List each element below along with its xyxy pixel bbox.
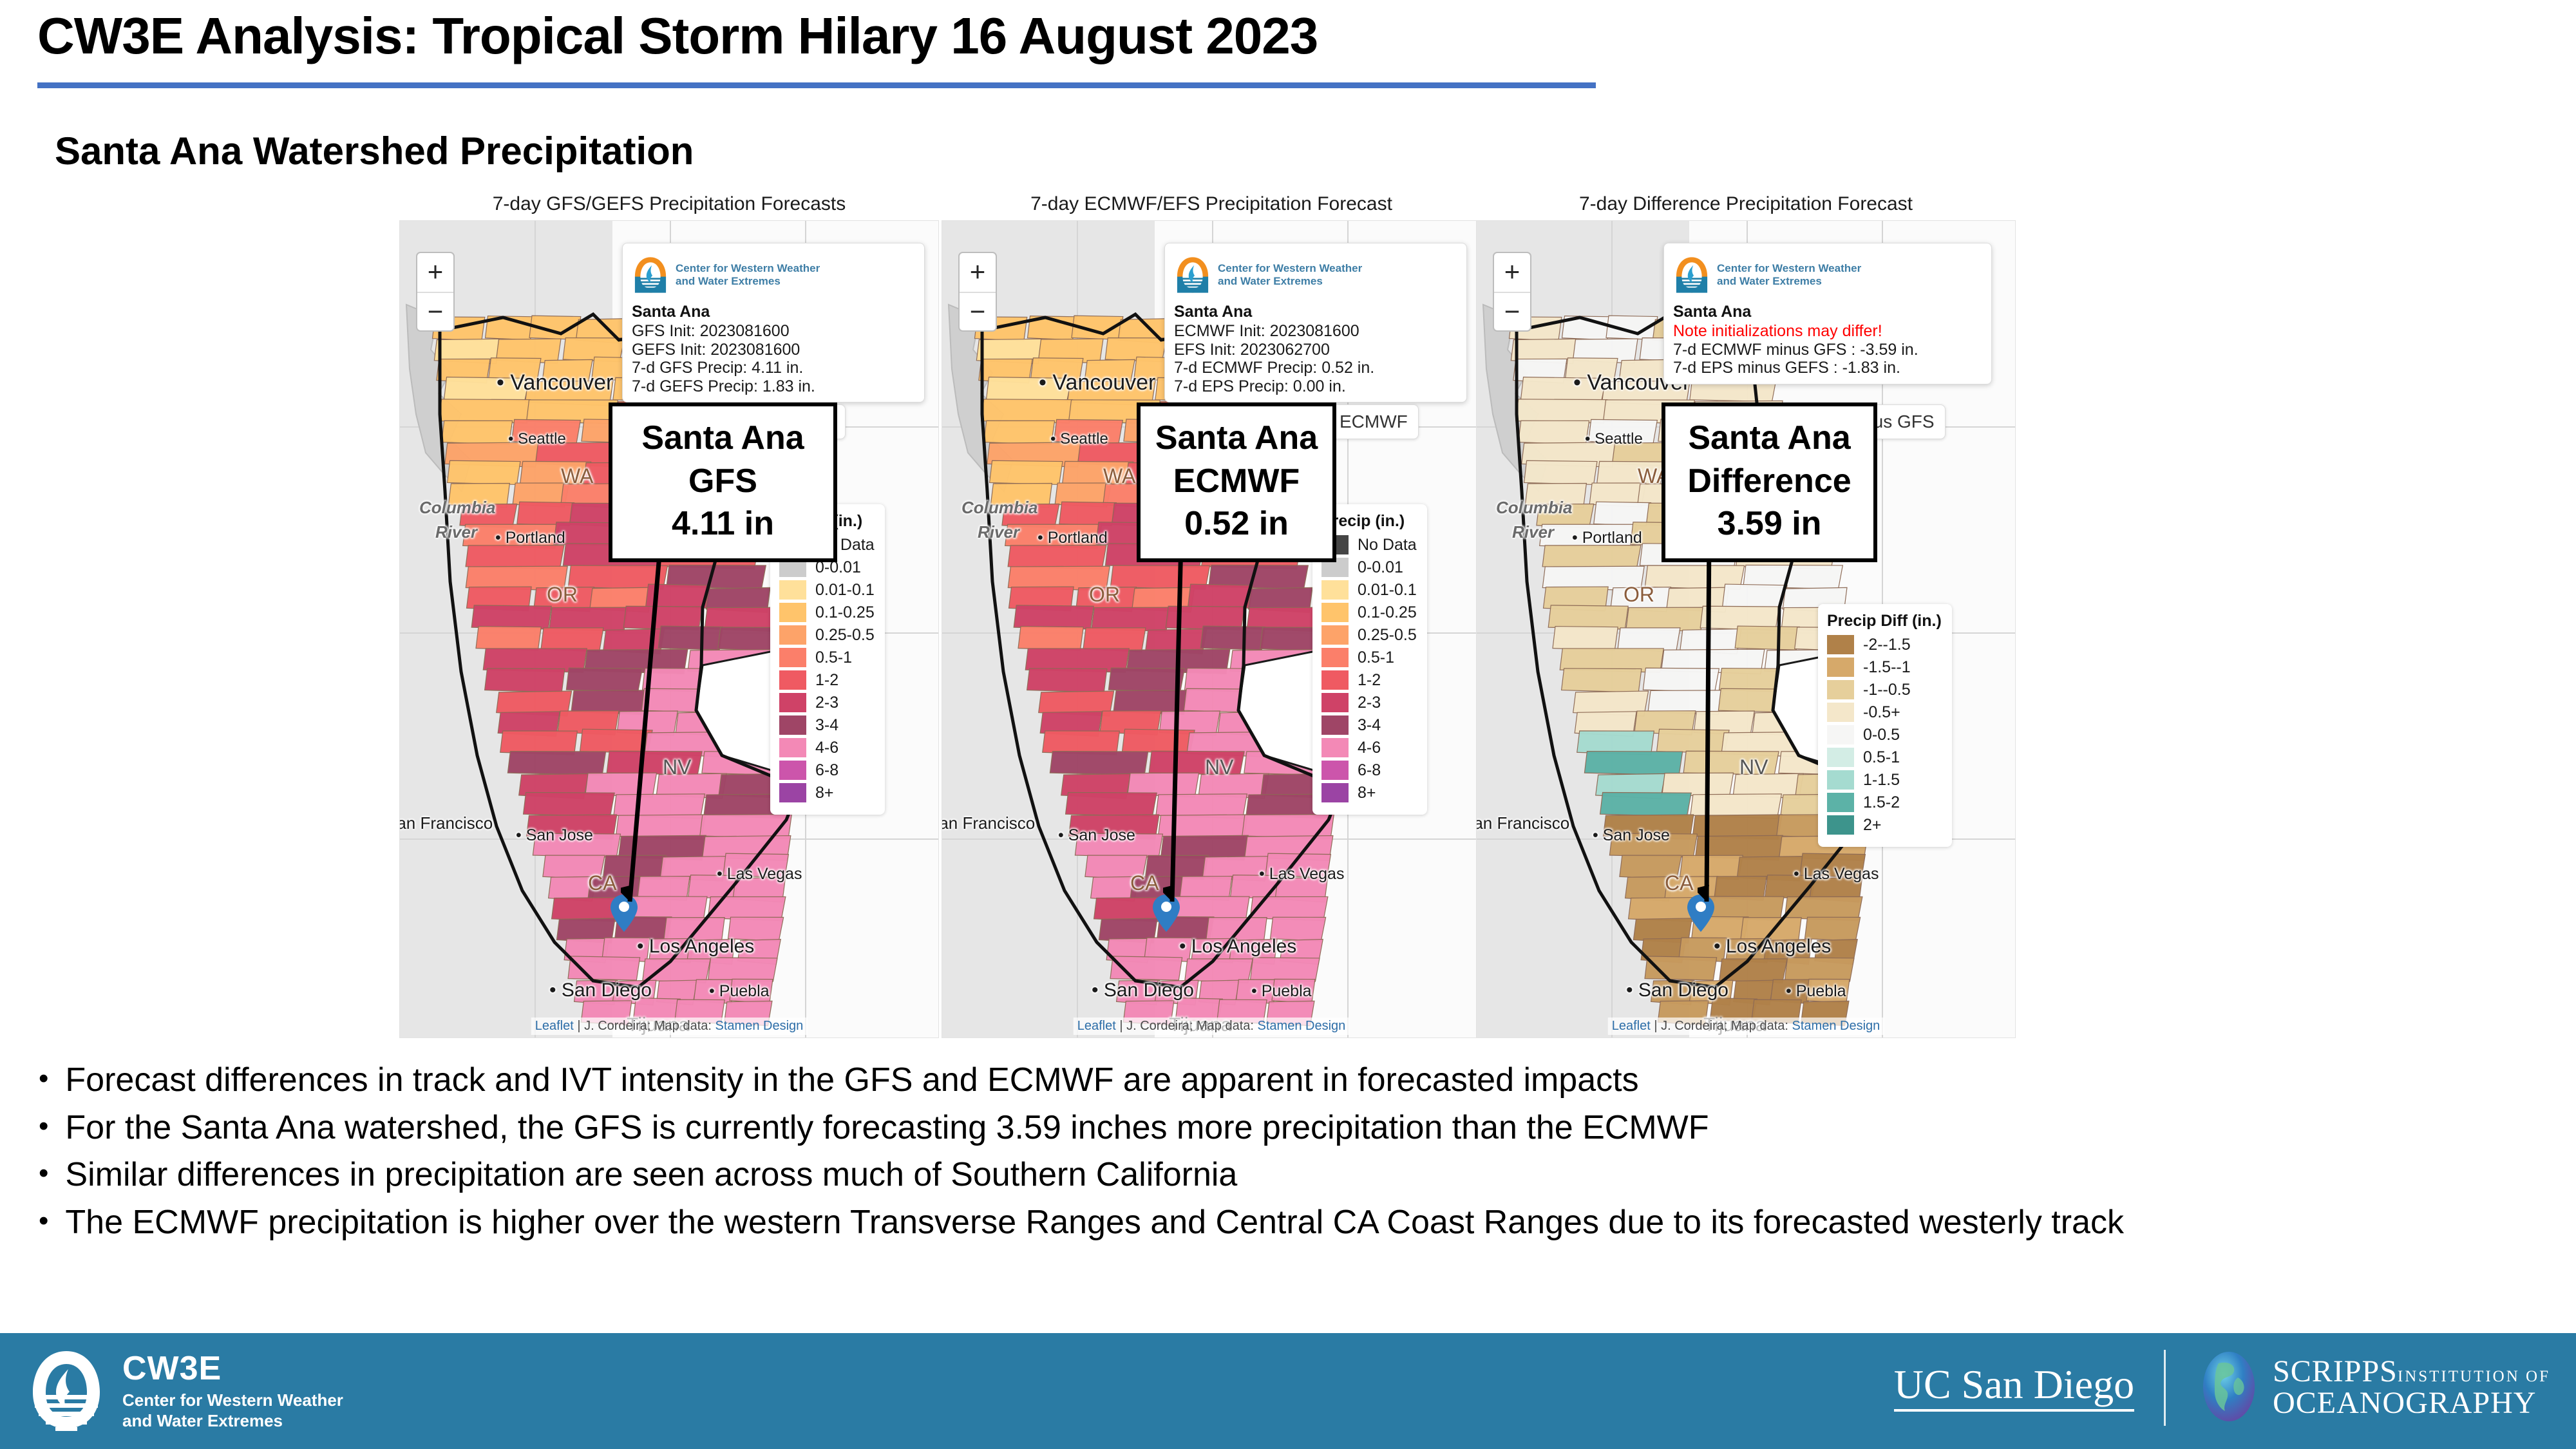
zoom-control-1: +− bbox=[416, 252, 455, 332]
popup-info-line: GEFS Init: 2023081600 bbox=[632, 341, 915, 359]
bullet-marker: • bbox=[39, 1059, 48, 1097]
legend-row: 6-8 bbox=[779, 761, 875, 780]
bullet-marker: • bbox=[39, 1107, 48, 1145]
legend-swatch bbox=[1321, 670, 1349, 690]
callout-box-2: Santa AnaECMWF0.52 in bbox=[1137, 402, 1336, 562]
cw3e-logo-text: Center for Western Weatherand Water Extr… bbox=[1717, 262, 1861, 288]
legend-row: 0.5-1 bbox=[1321, 648, 1417, 667]
leaflet-link[interactable]: Leaflet bbox=[1077, 1019, 1116, 1033]
map-label-or: OR bbox=[1624, 583, 1654, 607]
legend-label: 6-8 bbox=[815, 761, 838, 780]
map-label-portland: • Portland bbox=[495, 529, 565, 547]
bullet-list: •Forecast differences in track and IVT i… bbox=[39, 1059, 2550, 1249]
stamen-link[interactable]: Stamen Design bbox=[715, 1019, 804, 1033]
popup-site-name: Santa Ana bbox=[1174, 303, 1457, 321]
cw3e-logo-icon bbox=[1673, 251, 1710, 299]
legend-label: -1.5--1 bbox=[1863, 658, 1911, 677]
bullet-item-2: •For the Santa Ana watershed, the GFS is… bbox=[39, 1107, 2550, 1150]
stamen-link[interactable]: Stamen Design bbox=[1792, 1019, 1880, 1033]
scripps-main: SCRIPPS bbox=[2273, 1354, 2398, 1388]
map-label-san-francisco: San Francisco bbox=[1476, 813, 1569, 833]
popup-info-line: 7-d EPS minus GEFS : -1.83 in. bbox=[1673, 359, 1982, 377]
cw3e-popup-header: Center for Western Weatherand Water Extr… bbox=[632, 251, 915, 299]
legend-label: 1.5-2 bbox=[1863, 793, 1900, 812]
legend-row: 3-4 bbox=[1321, 715, 1417, 735]
legend-row: 4-6 bbox=[779, 738, 875, 757]
zoom-control-3: +− bbox=[1493, 252, 1531, 332]
popup-info-line: 7-d GFS Precip: 4.11 in. bbox=[632, 359, 915, 377]
map-caption-1: 7-day GFS/GEFS Precipitation Forecasts bbox=[399, 193, 939, 215]
scripps-line2: OCEANOGRAPHY bbox=[2273, 1387, 2550, 1419]
legend-row: 0.5-1 bbox=[1827, 748, 1942, 767]
cw3e-popup-header: Center for Western Weatherand Water Extr… bbox=[1174, 251, 1457, 299]
legend-label: 2-3 bbox=[815, 694, 838, 712]
legend-row: -2--1.5 bbox=[1827, 635, 1942, 654]
map-canvas-3: • Vancouver• SeattleWAColumbiaRiver• Por… bbox=[1476, 220, 2016, 1038]
watershed-marker-pin bbox=[1152, 894, 1180, 933]
legend-label: 0-0.01 bbox=[1358, 558, 1403, 577]
callout-line-2: ECMWF bbox=[1147, 460, 1326, 503]
legend-label: 6-8 bbox=[1358, 761, 1381, 780]
bullet-item-3: •Similar differences in precipitation ar… bbox=[39, 1154, 2550, 1197]
legend-label: 0-0.5 bbox=[1863, 726, 1900, 744]
map-label-seattle: • Seattle bbox=[1585, 430, 1643, 448]
map-attribution: Leaflet | J. Cordeira; Map data: Stamen … bbox=[1074, 1018, 1350, 1035]
watershed-marker-pin bbox=[1687, 894, 1715, 933]
legend-swatch bbox=[1321, 761, 1349, 780]
legend-label: -0.5+ bbox=[1863, 703, 1900, 722]
map-label-or: OR bbox=[1089, 583, 1120, 607]
cw3e-wordmark: CW3E bbox=[122, 1352, 343, 1385]
legend-label: 4-6 bbox=[1358, 739, 1381, 757]
scripps-small: INSTITUTION OF bbox=[2398, 1368, 2550, 1385]
map-label-portland: • Portland bbox=[1037, 529, 1108, 547]
map-label-las-vegas: • Las Vegas bbox=[717, 865, 802, 884]
zoom-in-button[interactable]: + bbox=[1494, 253, 1530, 293]
legend-label: 0.5-1 bbox=[1863, 748, 1900, 767]
map-label-san-francisco: San Francisco bbox=[399, 813, 493, 833]
legend-row: 1-1.5 bbox=[1827, 770, 1942, 790]
legend-label: No Data bbox=[1358, 536, 1417, 554]
map-label-san-diego: • San Diego bbox=[549, 980, 652, 1001]
legend-swatch bbox=[1827, 635, 1854, 654]
legend-swatch bbox=[1827, 703, 1854, 722]
cw3e-logo-icon bbox=[632, 251, 669, 299]
map-label-seattle: • Seattle bbox=[1050, 430, 1108, 448]
legend-label: 0.01-0.1 bbox=[815, 581, 875, 600]
legend-label: 2+ bbox=[1863, 816, 1882, 835]
legend-label: 0.5-1 bbox=[1358, 649, 1394, 667]
ucsd-logo: UC San Diego bbox=[1894, 1364, 2134, 1412]
map-label-ca: CA bbox=[1130, 871, 1159, 895]
legend-swatch bbox=[779, 580, 806, 600]
map-label-seattle: • Seattle bbox=[508, 430, 566, 448]
zoom-out-button[interactable]: − bbox=[960, 293, 996, 332]
globe-icon bbox=[2195, 1350, 2262, 1426]
map-attribution: Leaflet | J. Cordeira; Map data: Stamen … bbox=[1608, 1018, 1884, 1035]
callout-line-1: Santa Ana bbox=[619, 417, 827, 460]
map-label-columbia: Columbia bbox=[961, 498, 1037, 518]
cw3e-logo-text: Center for Western Weatherand Water Extr… bbox=[676, 262, 820, 288]
map-info-popup-1: Center for Western Weatherand Water Extr… bbox=[622, 243, 925, 402]
cw3e-logo-line1: Center for Western Weather bbox=[1218, 262, 1362, 275]
map-label-river: River bbox=[1512, 522, 1554, 542]
legend-swatch bbox=[1827, 725, 1854, 744]
legend-title: Precip Diff (in.) bbox=[1827, 612, 1942, 630]
map-label-las-vegas: • Las Vegas bbox=[1794, 865, 1879, 884]
map-canvas-1: • Vancouver• SeattleWAColumbiaRiver• Por… bbox=[399, 220, 939, 1038]
cw3e-popup-header: Center for Western Weatherand Water Extr… bbox=[1673, 251, 1982, 299]
map-label-river: River bbox=[978, 522, 1019, 542]
map-panel-2: 7-day ECMWF/EFS Precipitation Forecast• … bbox=[942, 193, 1481, 1038]
layer-control-label: ECMWF bbox=[1340, 412, 1408, 432]
map-label-san-francisco: San Francisco bbox=[942, 813, 1035, 833]
popup-site-name: Santa Ana bbox=[632, 303, 915, 321]
legend-swatch bbox=[779, 783, 806, 802]
map-label-puebla: • Puebla bbox=[709, 982, 770, 1001]
legend-row: 2-3 bbox=[779, 693, 875, 712]
cw3e-logo-icon bbox=[1174, 251, 1211, 299]
scripps-wordmark: SCRIPPSINSTITUTION OF OCEANOGRAPHY bbox=[2273, 1356, 2550, 1419]
bullet-text: For the Santa Ana watershed, the GFS is … bbox=[65, 1107, 2550, 1150]
cw3e-subtitle-line2: and Water Extremes bbox=[122, 1411, 343, 1432]
cw3e-logo-line2: and Water Extremes bbox=[1218, 275, 1362, 288]
leaflet-link[interactable]: Leaflet bbox=[535, 1019, 574, 1033]
zoom-in-button[interactable]: + bbox=[417, 253, 453, 293]
map-label-river: River bbox=[435, 522, 477, 542]
cw3e-footer-text: CW3E Center for Western Weather and Wate… bbox=[122, 1352, 343, 1431]
popup-info-line: ECMWF Init: 2023081600 bbox=[1174, 322, 1457, 341]
legend-swatch bbox=[1827, 793, 1854, 812]
popup-site-name: Santa Ana bbox=[1673, 303, 1982, 321]
watershed-marker-pin bbox=[610, 894, 638, 933]
popup-info-line: EFS Init: 2023062700 bbox=[1174, 341, 1457, 359]
legend-row: 4-6 bbox=[1321, 738, 1417, 757]
cw3e-logo-line2: and Water Extremes bbox=[676, 275, 820, 288]
attribution-mid: | J. Cordeira; Map data: bbox=[574, 1019, 715, 1033]
bullet-text: Forecast differences in track and IVT in… bbox=[65, 1059, 2550, 1102]
bullet-text: The ECMWF precipitation is higher over t… bbox=[65, 1202, 2550, 1244]
bullet-item-1: •Forecast differences in track and IVT i… bbox=[39, 1059, 2550, 1102]
scripps-logo: SCRIPPSINSTITUTION OF OCEANOGRAPHY bbox=[2195, 1350, 2550, 1426]
map-label-los-angeles: • Los Angeles bbox=[637, 936, 754, 958]
legend-swatch bbox=[1827, 658, 1854, 677]
callout-line-3: 4.11 in bbox=[619, 502, 827, 545]
legend-swatch bbox=[779, 670, 806, 690]
legend-row: 6-8 bbox=[1321, 761, 1417, 780]
stamen-link[interactable]: Stamen Design bbox=[1258, 1019, 1346, 1033]
legend-swatch bbox=[1321, 648, 1349, 667]
legend-row: 0-0.5 bbox=[1827, 725, 1942, 744]
map-label-nv: NV bbox=[1739, 755, 1768, 779]
map-attribution: Leaflet | J. Cordeira; Map data: Stamen … bbox=[531, 1018, 808, 1035]
callout-line-2: GFS bbox=[619, 460, 827, 503]
legend-row: 1-2 bbox=[1321, 670, 1417, 690]
legend-label: 1-2 bbox=[815, 671, 838, 690]
legend-swatch bbox=[779, 648, 806, 667]
map-label-san-jose: • San Jose bbox=[1593, 826, 1670, 845]
legend-row: 0.01-0.1 bbox=[779, 580, 875, 600]
legend-row: 0.5-1 bbox=[779, 648, 875, 667]
callout-line-1: Santa Ana bbox=[1672, 417, 1867, 460]
popup-info-line: 7-d ECMWF minus GFS : -3.59 in. bbox=[1673, 341, 1982, 359]
legend-row: 3-4 bbox=[779, 715, 875, 735]
bullet-text: Similar differences in precipitation are… bbox=[65, 1154, 2550, 1197]
legend-row: -1--0.5 bbox=[1827, 680, 1942, 699]
title-divider bbox=[37, 82, 1596, 88]
legend-row: 8+ bbox=[1321, 783, 1417, 802]
footer-partner-logos: UC San Diego SCRI bbox=[1894, 1350, 2550, 1426]
legend-label: 8+ bbox=[1358, 784, 1376, 802]
legend-label: 8+ bbox=[815, 784, 834, 802]
zoom-out-button[interactable]: − bbox=[417, 293, 453, 332]
legend-row: 0.25-0.5 bbox=[1321, 625, 1417, 645]
bullet-marker: • bbox=[39, 1202, 48, 1240]
legend-row: -0.5+ bbox=[1827, 703, 1942, 722]
legend-row: 8+ bbox=[779, 783, 875, 802]
legend-swatch bbox=[1827, 770, 1854, 790]
map-label-san-diego: • San Diego bbox=[1626, 980, 1728, 1001]
cw3e-logo-icon bbox=[24, 1347, 108, 1435]
cw3e-logo-text: Center for Western Weatherand Water Extr… bbox=[1218, 262, 1362, 288]
map-info-popup-3: Center for Western Weatherand Water Extr… bbox=[1663, 243, 1992, 384]
map-label-los-angeles: • Los Angeles bbox=[1714, 936, 1831, 958]
legend-swatch bbox=[779, 761, 806, 780]
legend-row: 1.5-2 bbox=[1827, 793, 1942, 812]
legend-swatch bbox=[1827, 815, 1854, 835]
legend-swatch bbox=[779, 738, 806, 757]
legend-swatch bbox=[1321, 693, 1349, 712]
legend-label: 3-4 bbox=[815, 716, 838, 735]
legend-swatch bbox=[779, 715, 806, 735]
legend-row: 0.1-0.25 bbox=[779, 603, 875, 622]
legend-swatch bbox=[779, 693, 806, 712]
popup-info-line: 7-d GEFS Precip: 1.83 in. bbox=[632, 377, 915, 396]
legend-row: 2-3 bbox=[1321, 693, 1417, 712]
legend-label: 0.25-0.5 bbox=[1358, 626, 1417, 645]
legend-swatch bbox=[1321, 580, 1349, 600]
map-label-san-diego: • San Diego bbox=[1092, 980, 1194, 1001]
legend-label: 0.01-0.1 bbox=[1358, 581, 1417, 600]
map-label-or: OR bbox=[547, 583, 578, 607]
leaflet-link[interactable]: Leaflet bbox=[1612, 1019, 1651, 1033]
cw3e-footer-logo: CW3E Center for Western Weather and Wate… bbox=[24, 1347, 343, 1435]
bullet-marker: • bbox=[39, 1154, 48, 1192]
cw3e-logo-line2: and Water Extremes bbox=[1717, 275, 1861, 288]
popup-info-line: GFS Init: 2023081600 bbox=[632, 322, 915, 341]
map-label-los-angeles: • Los Angeles bbox=[1179, 936, 1296, 958]
map-label-ca: CA bbox=[1665, 871, 1693, 895]
legend-swatch bbox=[779, 603, 806, 622]
map-canvas-2: • Vancouver• SeattleWAColumbiaRiver• Por… bbox=[942, 220, 1481, 1038]
map-legend-3: Precip Diff (in.)-2--1.5-1.5--1-1--0.5-0… bbox=[1818, 604, 1952, 847]
legend-swatch bbox=[1321, 715, 1349, 735]
legend-row: 0.25-0.5 bbox=[779, 625, 875, 645]
callout-box-1: Santa AnaGFS4.11 in bbox=[609, 402, 837, 562]
legend-label: 3-4 bbox=[1358, 716, 1381, 735]
map-label-puebla: • Puebla bbox=[1786, 982, 1846, 1001]
map-label-vancouver: • Vancouver bbox=[497, 370, 613, 395]
legend-swatch bbox=[1827, 680, 1854, 699]
section-title: Santa Ana Watershed Precipitation bbox=[55, 129, 694, 173]
popup-info-line: 7-d EPS Precip: 0.00 in. bbox=[1174, 377, 1457, 396]
map-label-vancouver: • Vancouver bbox=[1039, 370, 1155, 395]
legend-swatch bbox=[779, 625, 806, 645]
legend-label: -2--1.5 bbox=[1863, 636, 1911, 654]
legend-row: 0.1-0.25 bbox=[1321, 603, 1417, 622]
legend-swatch bbox=[1827, 748, 1854, 767]
legend-swatch bbox=[1321, 625, 1349, 645]
legend-label: -1--0.5 bbox=[1863, 681, 1911, 699]
legend-row: -1.5--1 bbox=[1827, 658, 1942, 677]
map-label-nv: NV bbox=[1205, 755, 1233, 779]
callout-line-2: Difference bbox=[1672, 460, 1867, 503]
map-label-san-jose: • San Jose bbox=[516, 826, 593, 845]
legend-label: 1-2 bbox=[1358, 671, 1381, 690]
attribution-mid: | J. Cordeira; Map data: bbox=[1651, 1019, 1792, 1033]
legend-label: 4-6 bbox=[815, 739, 838, 757]
map-label-nv: NV bbox=[663, 755, 691, 779]
footer-divider bbox=[2164, 1350, 2166, 1426]
legend-row: 0.01-0.1 bbox=[1321, 580, 1417, 600]
callout-line-3: 3.59 in bbox=[1672, 502, 1867, 545]
map-panel-1: 7-day GFS/GEFS Precipitation Forecasts• … bbox=[399, 193, 939, 1038]
map-label-columbia: Columbia bbox=[419, 498, 495, 518]
cw3e-subtitle-line1: Center for Western Weather bbox=[122, 1390, 343, 1411]
popup-info-line: 7-d ECMWF Precip: 0.52 in. bbox=[1174, 359, 1457, 377]
map-caption-2: 7-day ECMWF/EFS Precipitation Forecast bbox=[942, 193, 1481, 215]
page-title: CW3E Analysis: Tropical Storm Hilary 16 … bbox=[37, 6, 1318, 66]
zoom-control-2: +− bbox=[958, 252, 997, 332]
map-label-portland: • Portland bbox=[1572, 529, 1642, 547]
legend-label: 1-1.5 bbox=[1863, 771, 1900, 790]
legend-swatch bbox=[1321, 603, 1349, 622]
legend-label: 0.5-1 bbox=[815, 649, 852, 667]
legend-swatch bbox=[1321, 738, 1349, 757]
callout-line-1: Santa Ana bbox=[1147, 417, 1326, 460]
map-label-wa: WA bbox=[561, 464, 593, 488]
map-label-columbia: Columbia bbox=[1496, 498, 1572, 518]
map-label-san-jose: • San Jose bbox=[1058, 826, 1135, 845]
map-label-puebla: • Puebla bbox=[1251, 982, 1312, 1001]
callout-box-3: Santa AnaDifference3.59 in bbox=[1662, 402, 1877, 562]
legend-label: 0.25-0.5 bbox=[815, 626, 875, 645]
legend-label: 0.1-0.25 bbox=[1358, 603, 1417, 622]
attribution-mid: | J. Cordeira; Map data: bbox=[1116, 1019, 1258, 1033]
footer-bar: CW3E Center for Western Weather and Wate… bbox=[0, 1333, 2576, 1449]
legend-label: 0.1-0.25 bbox=[815, 603, 875, 622]
map-caption-3: 7-day Difference Precipitation Forecast bbox=[1476, 193, 2016, 215]
zoom-out-button[interactable]: − bbox=[1494, 293, 1530, 332]
zoom-in-button[interactable]: + bbox=[960, 253, 996, 293]
callout-line-3: 0.52 in bbox=[1147, 502, 1326, 545]
cw3e-logo-line1: Center for Western Weather bbox=[676, 262, 820, 275]
legend-row: 1-2 bbox=[779, 670, 875, 690]
bullet-item-4: •The ECMWF precipitation is higher over … bbox=[39, 1202, 2550, 1244]
legend-swatch bbox=[1321, 783, 1349, 802]
legend-row: 2+ bbox=[1827, 815, 1942, 835]
map-info-popup-2: Center for Western Weatherand Water Extr… bbox=[1164, 243, 1467, 402]
legend-label: 2-3 bbox=[1358, 694, 1381, 712]
cw3e-logo-line1: Center for Western Weather bbox=[1717, 262, 1861, 275]
map-label-ca: CA bbox=[588, 871, 616, 895]
map-label-wa: WA bbox=[1103, 464, 1135, 488]
map-panel-3: 7-day Difference Precipitation Forecast•… bbox=[1476, 193, 2016, 1038]
map-label-las-vegas: • Las Vegas bbox=[1259, 865, 1344, 884]
popup-warning-text: Note initializations may differ! bbox=[1673, 322, 1982, 341]
